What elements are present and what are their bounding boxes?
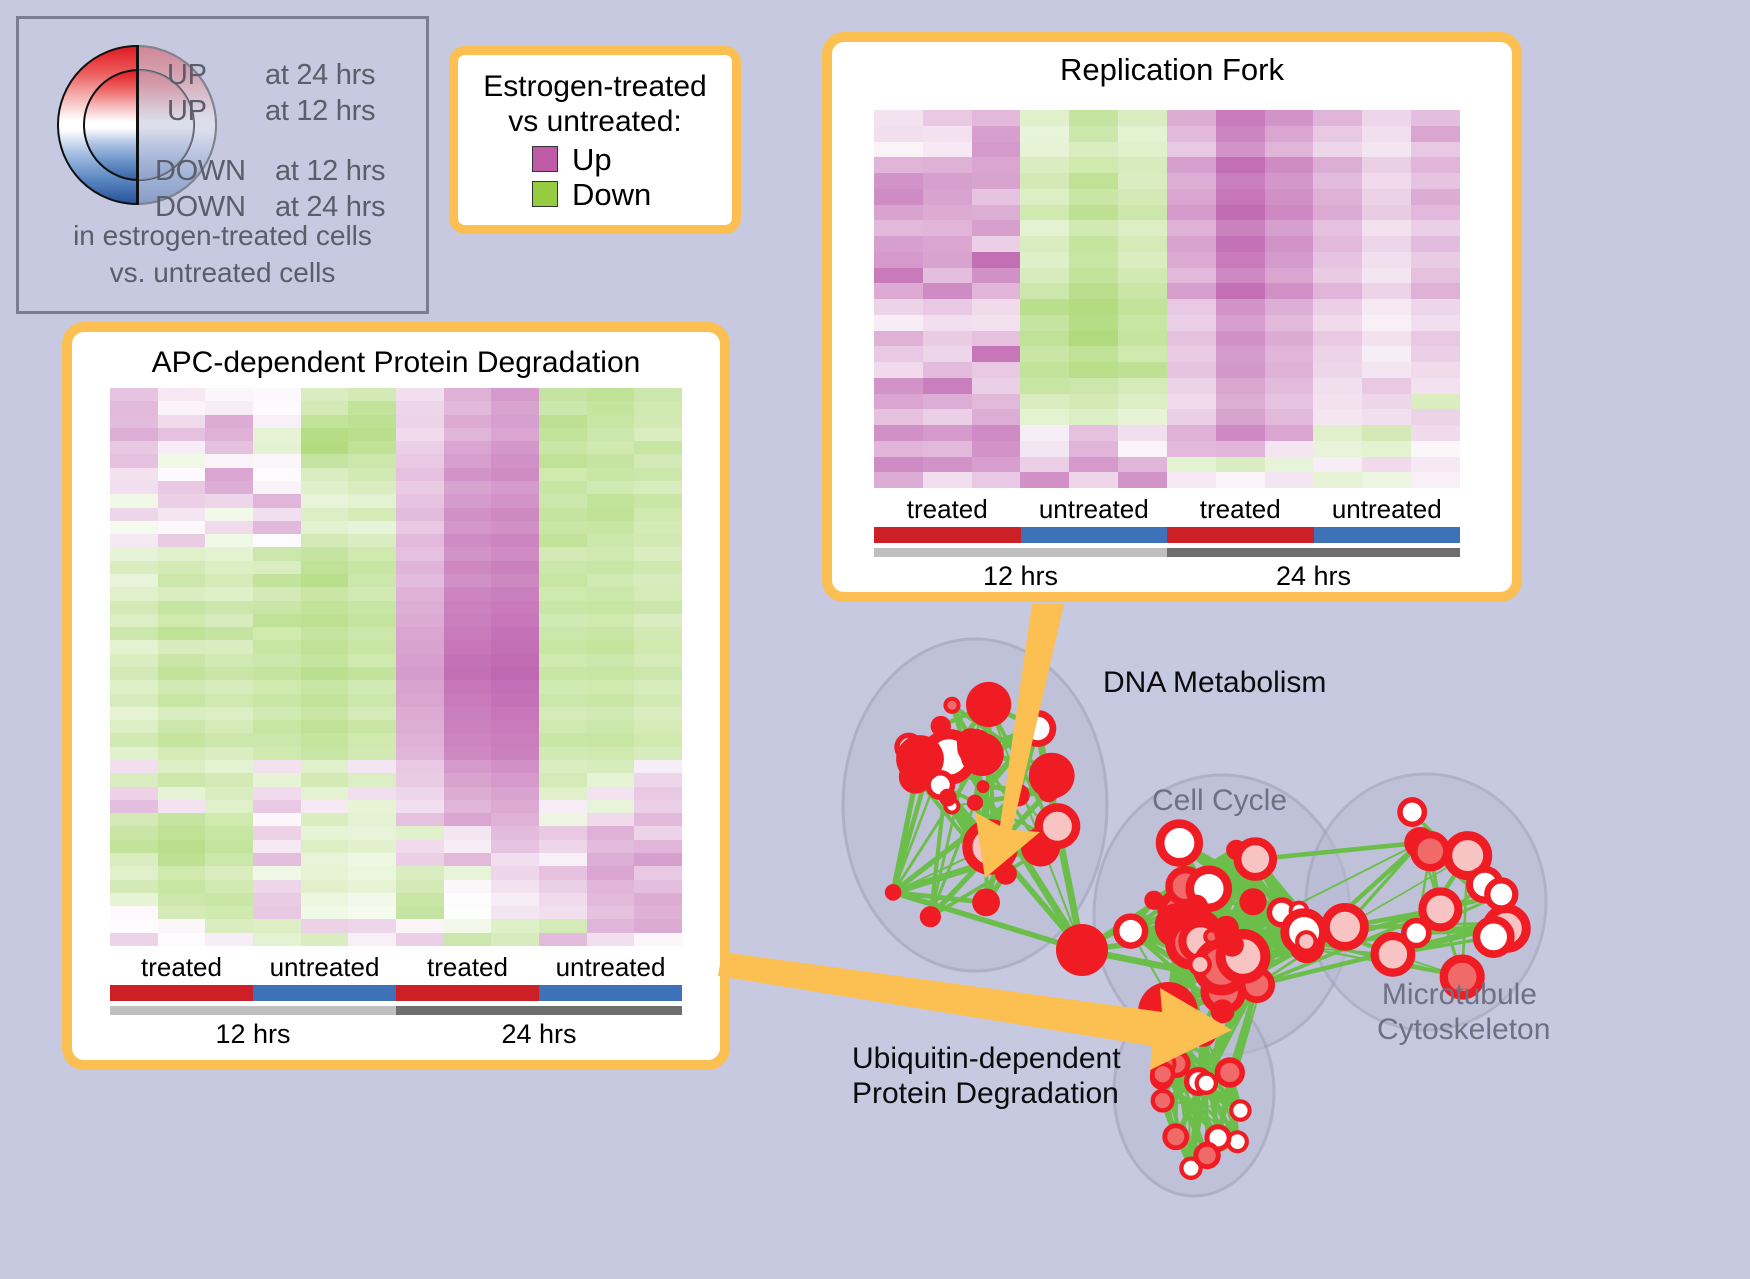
heatmap-cell bbox=[634, 415, 682, 428]
heatmap-cell bbox=[205, 919, 253, 932]
heatmap-cell bbox=[1118, 220, 1167, 236]
heatmap-cell bbox=[205, 667, 253, 680]
heatmap-cell bbox=[1265, 346, 1314, 362]
heatmap-cell bbox=[1118, 299, 1167, 315]
heatmap-cell bbox=[301, 707, 349, 720]
heatmap-cell bbox=[1167, 220, 1216, 236]
heatmap-cell bbox=[1216, 205, 1265, 221]
heatmap-cell bbox=[301, 880, 349, 893]
heatmap-cell bbox=[1118, 362, 1167, 378]
heatmap-cell bbox=[972, 142, 1021, 158]
heatmap-cell bbox=[1167, 268, 1216, 284]
heatmap-cell bbox=[396, 654, 444, 667]
heatmap-cell bbox=[158, 521, 206, 534]
heatmap-cell bbox=[158, 893, 206, 906]
heatmap-cell bbox=[205, 415, 253, 428]
heatmap-cell bbox=[205, 760, 253, 773]
condition-label: untreated bbox=[1021, 494, 1168, 525]
heatmap-cell bbox=[1362, 425, 1411, 441]
heatmap-cell bbox=[1362, 409, 1411, 425]
heatmap-cell bbox=[348, 933, 396, 946]
heatmap-cell bbox=[587, 494, 635, 507]
heatmap-cell bbox=[491, 521, 539, 534]
heatmap-cell bbox=[491, 601, 539, 614]
heatmap-cell bbox=[874, 220, 923, 236]
network-node bbox=[1476, 920, 1510, 954]
network-node bbox=[977, 780, 990, 793]
heatmap-cell bbox=[491, 401, 539, 414]
heatmap-cell bbox=[587, 800, 635, 813]
heatmap-cell bbox=[253, 401, 301, 414]
heatmap-cell bbox=[444, 428, 492, 441]
heatmap-cell bbox=[110, 840, 158, 853]
heatmap-cell bbox=[634, 494, 682, 507]
heatmap-cell bbox=[923, 472, 972, 488]
heatmap-cell bbox=[396, 587, 444, 600]
heatmap-cell bbox=[205, 627, 253, 640]
heatmap-cell bbox=[1069, 425, 1118, 441]
heatmap-cell bbox=[1020, 299, 1069, 315]
heatmap-cell bbox=[587, 733, 635, 746]
updown-legend-box: Estrogen-treated vs untreated: Up Down bbox=[449, 46, 741, 234]
heatmap-cell bbox=[110, 747, 158, 760]
heatmap-cell bbox=[1069, 346, 1118, 362]
heatmap-cell bbox=[444, 587, 492, 600]
heatmap-cell bbox=[205, 707, 253, 720]
heatmap-cell bbox=[1167, 299, 1216, 315]
heatmap-cell bbox=[539, 574, 587, 587]
heatmap-cell bbox=[205, 587, 253, 600]
heatmap-cell bbox=[539, 720, 587, 733]
heatmap-cell bbox=[1069, 283, 1118, 299]
heatmap-cell bbox=[539, 494, 587, 507]
heatmap-cell bbox=[110, 561, 158, 574]
heatmap-cell bbox=[491, 441, 539, 454]
heatmap-cell bbox=[1020, 457, 1069, 473]
heatmap-cell bbox=[1167, 142, 1216, 158]
heatmap-cell bbox=[634, 508, 682, 521]
heatmap-cell bbox=[1167, 472, 1216, 488]
heatmap-cell bbox=[1069, 126, 1118, 142]
heatmap-cell bbox=[1411, 252, 1460, 268]
heatmap-cell bbox=[158, 428, 206, 441]
heatmap-cell bbox=[1216, 173, 1265, 189]
heatmap-cell bbox=[110, 534, 158, 547]
network-node bbox=[1152, 1064, 1173, 1085]
heatmap-cell bbox=[444, 454, 492, 467]
heatmap-cell bbox=[1069, 457, 1118, 473]
heatmap-cell bbox=[972, 173, 1021, 189]
heatmap-cell bbox=[1020, 346, 1069, 362]
heatmap-cell bbox=[972, 220, 1021, 236]
heatmap-cell bbox=[444, 853, 492, 866]
heatmap-cell bbox=[491, 826, 539, 839]
heatmap-cell bbox=[205, 534, 253, 547]
network-node bbox=[966, 682, 1011, 727]
heatmap-cell bbox=[1118, 346, 1167, 362]
heatmap-cell bbox=[158, 800, 206, 813]
heatmap-cell bbox=[1411, 110, 1460, 126]
heatmap-cell bbox=[1216, 157, 1265, 173]
network-node bbox=[957, 729, 994, 766]
heatmap-cell bbox=[348, 561, 396, 574]
heatmap-cell bbox=[301, 680, 349, 693]
heatmap-cell bbox=[1362, 157, 1411, 173]
heatmap-cell bbox=[1118, 126, 1167, 142]
heatmap-cell bbox=[348, 720, 396, 733]
heatmap-cell bbox=[1118, 110, 1167, 126]
heatmap-cell bbox=[301, 733, 349, 746]
heatmap-cell bbox=[1020, 409, 1069, 425]
heatmap-cell bbox=[205, 880, 253, 893]
heatmap-cell bbox=[110, 813, 158, 826]
annotation-replication-fork: treateduntreatedtreateduntreated 12 hrs2… bbox=[874, 494, 1460, 592]
condition-bar-segment bbox=[874, 527, 1021, 543]
heatmap-cell bbox=[491, 866, 539, 879]
heatmap-cell bbox=[444, 508, 492, 521]
heatmap-cell bbox=[1069, 142, 1118, 158]
heatmap-cell bbox=[205, 547, 253, 560]
heatmap-cell bbox=[491, 919, 539, 932]
heatmap-cell bbox=[253, 694, 301, 707]
network-node bbox=[1217, 1060, 1242, 1085]
heatmap-cell bbox=[587, 906, 635, 919]
heatmap-cell bbox=[444, 667, 492, 680]
heatmap-cell bbox=[1020, 315, 1069, 331]
network-node bbox=[967, 824, 1012, 869]
heatmap-cell bbox=[348, 733, 396, 746]
heatmap-cell bbox=[444, 747, 492, 760]
heatmap-cell bbox=[301, 441, 349, 454]
heatmap-cell bbox=[396, 601, 444, 614]
heatmap-cell bbox=[348, 521, 396, 534]
heatmap-cell bbox=[1069, 236, 1118, 252]
network-node bbox=[1144, 891, 1163, 910]
heatmap-cell bbox=[301, 893, 349, 906]
panel-title-replication-fork: Replication Fork bbox=[832, 52, 1512, 88]
key-row-1-label: UP bbox=[167, 95, 207, 128]
heatmap-cell bbox=[1118, 425, 1167, 441]
heatmap-cell bbox=[301, 906, 349, 919]
heatmap-cell bbox=[587, 680, 635, 693]
heatmap-cell bbox=[1216, 110, 1265, 126]
heatmap-cell bbox=[1265, 283, 1314, 299]
heatmap-cell bbox=[874, 173, 923, 189]
key-row-0-time: at 24 hrs bbox=[265, 59, 375, 92]
heatmap-cell bbox=[634, 906, 682, 919]
heatmap-cell bbox=[923, 110, 972, 126]
cluster-label-dna-metabolism: DNA Metabolism bbox=[1103, 666, 1326, 701]
heatmap-cell bbox=[539, 733, 587, 746]
heatmap-cell bbox=[634, 601, 682, 614]
heatmap-cell bbox=[110, 401, 158, 414]
network-node bbox=[967, 795, 983, 811]
heatmap-cell bbox=[1411, 173, 1460, 189]
heatmap-cell bbox=[444, 481, 492, 494]
heatmap-cell bbox=[539, 813, 587, 826]
heatmap-cell bbox=[301, 933, 349, 946]
heatmap-cell bbox=[1216, 409, 1265, 425]
heatmap-cell bbox=[110, 508, 158, 521]
heatmap-cell bbox=[491, 508, 539, 521]
heatmap-cell bbox=[923, 205, 972, 221]
heatmap-cell bbox=[1069, 472, 1118, 488]
heatmap-cell bbox=[874, 189, 923, 205]
heatmap-cell bbox=[301, 508, 349, 521]
heatmap-cell bbox=[1313, 378, 1362, 394]
heatmap-cell bbox=[348, 614, 396, 627]
heatmap-cell bbox=[444, 601, 492, 614]
heatmap-cell bbox=[1216, 457, 1265, 473]
heatmap-cell bbox=[923, 220, 972, 236]
heatmap-cell bbox=[539, 773, 587, 786]
heatmap-cell bbox=[1411, 425, 1460, 441]
heatmap-cell bbox=[444, 654, 492, 667]
heatmap-cell bbox=[539, 441, 587, 454]
heatmap-cell bbox=[396, 534, 444, 547]
heatmap-cell bbox=[1411, 472, 1460, 488]
heatmap-cell bbox=[539, 454, 587, 467]
heatmap-cell bbox=[634, 640, 682, 653]
heatmap-cell bbox=[253, 454, 301, 467]
heatmap-cell bbox=[1020, 110, 1069, 126]
heatmap-cell bbox=[444, 906, 492, 919]
heatmap-cell bbox=[348, 441, 396, 454]
heatmap-cell bbox=[253, 853, 301, 866]
heatmap-cell bbox=[396, 760, 444, 773]
heatmap-cell bbox=[1313, 409, 1362, 425]
network-diagram bbox=[790, 620, 1750, 1279]
heatmap-cell bbox=[1313, 472, 1362, 488]
heatmap-cell bbox=[1313, 220, 1362, 236]
network-node bbox=[972, 889, 1000, 917]
heatmap-cell bbox=[1216, 189, 1265, 205]
heatmap-cell bbox=[1313, 457, 1362, 473]
key-row-0-label: UP bbox=[167, 59, 207, 92]
heatmap-cell bbox=[1118, 189, 1167, 205]
heatmap-cell bbox=[491, 627, 539, 640]
condition-bar-segment bbox=[396, 985, 539, 1001]
heatmap-cell bbox=[491, 614, 539, 627]
heatmap-cell bbox=[1020, 394, 1069, 410]
heatmap-cell bbox=[158, 601, 206, 614]
heatmap-cell bbox=[253, 840, 301, 853]
heatmap-cell bbox=[158, 415, 206, 428]
heatmap-cell bbox=[253, 933, 301, 946]
heatmap-cell bbox=[444, 840, 492, 853]
heatmap-cell bbox=[587, 893, 635, 906]
heatmap-cell bbox=[1411, 362, 1460, 378]
heatmap-cell bbox=[158, 866, 206, 879]
heatmap-cell bbox=[396, 787, 444, 800]
heatmap-cell bbox=[539, 694, 587, 707]
heatmap-cell bbox=[396, 720, 444, 733]
heatmap-cell bbox=[205, 853, 253, 866]
heatmap-cell bbox=[1020, 362, 1069, 378]
heatmap-cell bbox=[158, 494, 206, 507]
heatmap-cell bbox=[301, 720, 349, 733]
heatmap-cell bbox=[301, 787, 349, 800]
heatmap-cell bbox=[396, 640, 444, 653]
heatmap-cell bbox=[1020, 189, 1069, 205]
heatmap-cell bbox=[634, 760, 682, 773]
heatmap-cell bbox=[396, 428, 444, 441]
heatmap-cell bbox=[205, 401, 253, 414]
network-node bbox=[1239, 888, 1266, 915]
heatmap-cell bbox=[1020, 157, 1069, 173]
heatmap-cell bbox=[634, 547, 682, 560]
heatmap-cell bbox=[253, 534, 301, 547]
heatmap-cell bbox=[1362, 283, 1411, 299]
heatmap-cell bbox=[491, 481, 539, 494]
condition-label: treated bbox=[874, 494, 1021, 525]
heatmap-cell bbox=[444, 494, 492, 507]
heatmap-cell bbox=[491, 680, 539, 693]
heatmap-grid bbox=[110, 388, 682, 946]
heatmap-cell bbox=[348, 919, 396, 932]
heatmap-cell bbox=[1069, 331, 1118, 347]
heatmap-cell bbox=[874, 299, 923, 315]
heatmap-cell bbox=[539, 747, 587, 760]
heatmap-cell bbox=[587, 547, 635, 560]
heatmap-cell bbox=[1167, 283, 1216, 299]
heatmap-cell bbox=[396, 561, 444, 574]
heatmap-cell bbox=[301, 534, 349, 547]
time-labels: 12 hrs24 hrs bbox=[874, 561, 1460, 592]
heatmap-cell bbox=[972, 157, 1021, 173]
heatmap-cell bbox=[110, 707, 158, 720]
heatmap-cell bbox=[1167, 173, 1216, 189]
heatmap-cell bbox=[253, 720, 301, 733]
heatmap-cell bbox=[301, 640, 349, 653]
heatmap-cell bbox=[1362, 394, 1411, 410]
heatmap-cell bbox=[1265, 268, 1314, 284]
heatmap-cell bbox=[110, 800, 158, 813]
heatmap-cell bbox=[205, 654, 253, 667]
heatmap-cell bbox=[923, 362, 972, 378]
heatmap-cell bbox=[1118, 283, 1167, 299]
heatmap-cell bbox=[396, 853, 444, 866]
heatmap-cell bbox=[110, 760, 158, 773]
heatmap-cell bbox=[874, 157, 923, 173]
heatmap-cell bbox=[205, 561, 253, 574]
heatmap-cell bbox=[444, 733, 492, 746]
heatmap-cell bbox=[348, 893, 396, 906]
heatmap-cell bbox=[158, 826, 206, 839]
heatmap-cell bbox=[1265, 110, 1314, 126]
heatmap-cell bbox=[587, 826, 635, 839]
heatmap-cell bbox=[923, 142, 972, 158]
heatmap-cell bbox=[1362, 205, 1411, 221]
heatmap-cell bbox=[396, 733, 444, 746]
condition-bar-segment bbox=[253, 985, 396, 1001]
heatmap-cell bbox=[253, 415, 301, 428]
condition-label: treated bbox=[110, 952, 253, 983]
heatmap-cell bbox=[1167, 457, 1216, 473]
heatmap-cell bbox=[444, 880, 492, 893]
heatmap-cell bbox=[253, 667, 301, 680]
heatmap-cell bbox=[158, 614, 206, 627]
legend-title-line2: vs untreated: bbox=[458, 104, 732, 139]
heatmap-cell bbox=[444, 826, 492, 839]
heatmap-cell bbox=[396, 840, 444, 853]
heatmap-cell bbox=[396, 667, 444, 680]
heatmap-cell bbox=[539, 468, 587, 481]
heatmap-cell bbox=[205, 640, 253, 653]
heatmap-cell bbox=[348, 747, 396, 760]
heatmap-cell bbox=[205, 694, 253, 707]
heatmap-cell bbox=[1411, 220, 1460, 236]
time-label: 12 hrs bbox=[110, 1019, 396, 1050]
heatmap-cell bbox=[301, 747, 349, 760]
network-node bbox=[1197, 1074, 1216, 1093]
heatmap-cell bbox=[874, 236, 923, 252]
heatmap-cell bbox=[1167, 362, 1216, 378]
heatmap-cell bbox=[1265, 252, 1314, 268]
heatmap-cell bbox=[1362, 173, 1411, 189]
heatmap-cell bbox=[491, 574, 539, 587]
heatmap-cell bbox=[923, 394, 972, 410]
heatmap-cell bbox=[253, 813, 301, 826]
heatmap-cell bbox=[491, 893, 539, 906]
heatmap-cell bbox=[1265, 331, 1314, 347]
heatmap-cell bbox=[301, 694, 349, 707]
heatmap-cell bbox=[110, 787, 158, 800]
heatmap-cell bbox=[1167, 331, 1216, 347]
heatmap-cell bbox=[539, 680, 587, 693]
heatmap-cell bbox=[110, 640, 158, 653]
heatmap-cell bbox=[444, 521, 492, 534]
heatmap-cell bbox=[587, 521, 635, 534]
cluster-label-microtubule-cytoskeleton: Microtubule Cytoskeleton bbox=[1377, 978, 1537, 1047]
heatmap-cell bbox=[539, 508, 587, 521]
heatmap-cell bbox=[1118, 157, 1167, 173]
heatmap-cell bbox=[1362, 268, 1411, 284]
heatmap-cell bbox=[972, 205, 1021, 221]
heatmap-cell bbox=[539, 640, 587, 653]
network-node bbox=[1116, 917, 1145, 946]
heatmap-cell bbox=[1069, 268, 1118, 284]
heatmap-cell bbox=[539, 601, 587, 614]
heatmap-cell bbox=[539, 866, 587, 879]
heatmap-cell bbox=[587, 787, 635, 800]
heatmap-cell bbox=[1167, 346, 1216, 362]
heatmap-cell bbox=[972, 236, 1021, 252]
heatmap-cell bbox=[1313, 157, 1362, 173]
network-node bbox=[1196, 1144, 1218, 1166]
network-node bbox=[1422, 891, 1458, 927]
heatmap-cell bbox=[972, 425, 1021, 441]
heatmap-cell bbox=[587, 614, 635, 627]
heatmap-cell bbox=[1313, 315, 1362, 331]
legend-item-up: Up bbox=[532, 144, 732, 175]
heatmap-cell bbox=[253, 773, 301, 786]
heatmap-cell bbox=[253, 468, 301, 481]
heatmap-cell bbox=[1069, 362, 1118, 378]
heatmap-cell bbox=[253, 826, 301, 839]
heatmap-cell bbox=[396, 694, 444, 707]
heatmap-cell bbox=[158, 574, 206, 587]
heatmap-cell bbox=[587, 933, 635, 946]
heatmap-cell bbox=[205, 826, 253, 839]
heatmap-cell bbox=[874, 441, 923, 457]
heatmap-cell bbox=[539, 826, 587, 839]
heatmap-cell bbox=[396, 893, 444, 906]
heatmap-cell bbox=[444, 720, 492, 733]
heatmap-cell bbox=[1313, 126, 1362, 142]
heatmap-cell bbox=[348, 428, 396, 441]
heatmap-cell bbox=[1216, 315, 1265, 331]
